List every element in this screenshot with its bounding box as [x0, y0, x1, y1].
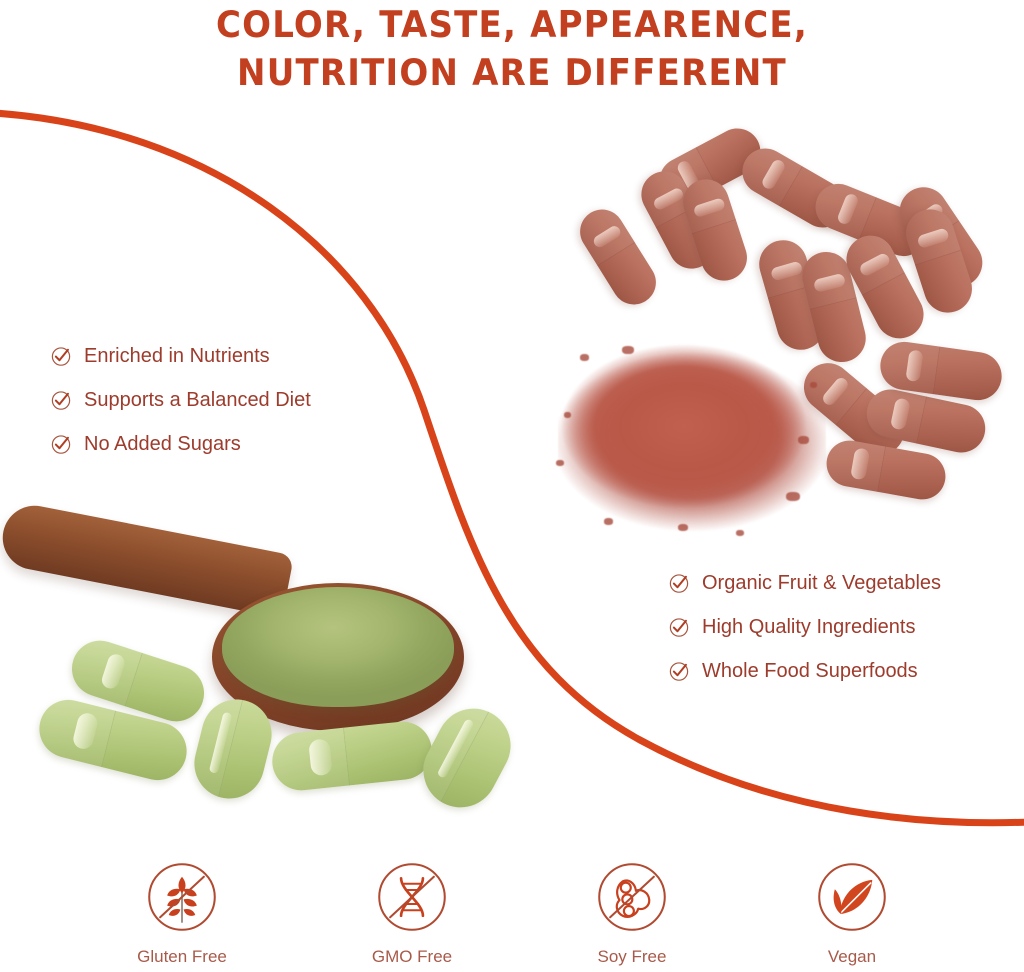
- list-item-label: No Added Sugars: [84, 433, 241, 455]
- list-item: Enriched in Nutrients: [50, 345, 311, 367]
- check-circle-icon: [50, 433, 72, 455]
- red-capsules-photo: [548, 135, 1024, 535]
- check-circle-icon: [50, 389, 72, 411]
- check-circle-icon: [668, 616, 690, 638]
- check-circle-icon: [668, 660, 690, 682]
- badge-soy-free: Soy Free: [522, 858, 742, 972]
- list-item: Organic Fruit & Vegetables: [668, 572, 941, 594]
- list-item: Supports a Balanced Diet: [50, 389, 311, 411]
- leaf-icon: [742, 858, 962, 941]
- list-item-label: High Quality Ingredients: [702, 616, 915, 638]
- list-item: No Added Sugars: [50, 433, 311, 455]
- badge-label: Soy Free: [522, 947, 742, 967]
- benefits-list-left: Enriched in Nutrients Supports a Balance…: [50, 345, 311, 455]
- headline-line-2: NUTRITION ARE DIFFERENT: [0, 48, 1024, 98]
- wooden-spoon-handle: [0, 500, 294, 618]
- no-wheat-icon: [62, 858, 302, 941]
- page-title: COLOR, TASTE, APPEARENCE, NUTRITION ARE …: [0, 0, 1024, 96]
- badge-label: Gluten Free: [62, 947, 302, 967]
- benefits-list-right: Organic Fruit & Vegetables High Quality …: [668, 572, 941, 682]
- badge-gmo-free: GMO Free: [302, 858, 522, 972]
- infographic-page: COLOR, TASTE, APPEARENCE, NUTRITION ARE …: [0, 0, 1024, 972]
- list-item: Whole Food Superfoods: [668, 660, 941, 682]
- capsule-green: [410, 696, 523, 821]
- list-item-label: Enriched in Nutrients: [84, 345, 270, 367]
- headline-line-1: COLOR, TASTE, APPEARENCE,: [0, 0, 1024, 50]
- check-circle-icon: [50, 345, 72, 367]
- green-powder-pile: [222, 587, 454, 707]
- list-item-label: Whole Food Superfoods: [702, 660, 918, 682]
- red-powder-pile: [558, 340, 826, 536]
- no-dna-icon: [302, 858, 522, 941]
- certification-badges: Gluten Free GMO Free: [0, 858, 1024, 972]
- green-powder-spoon-photo: [0, 515, 535, 850]
- list-item-label: Organic Fruit & Vegetables: [702, 572, 941, 594]
- badge-label: Vegan: [742, 947, 962, 967]
- badge-gluten-free: Gluten Free: [62, 858, 302, 972]
- list-item-label: Supports a Balanced Diet: [84, 389, 311, 411]
- badge-label: GMO Free: [302, 947, 522, 967]
- capsule-red: [823, 437, 949, 503]
- badge-vegan: Vegan: [742, 858, 962, 972]
- check-circle-icon: [668, 572, 690, 594]
- no-soy-icon: [522, 858, 742, 941]
- capsule-green: [269, 719, 434, 793]
- list-item: High Quality Ingredients: [668, 616, 941, 638]
